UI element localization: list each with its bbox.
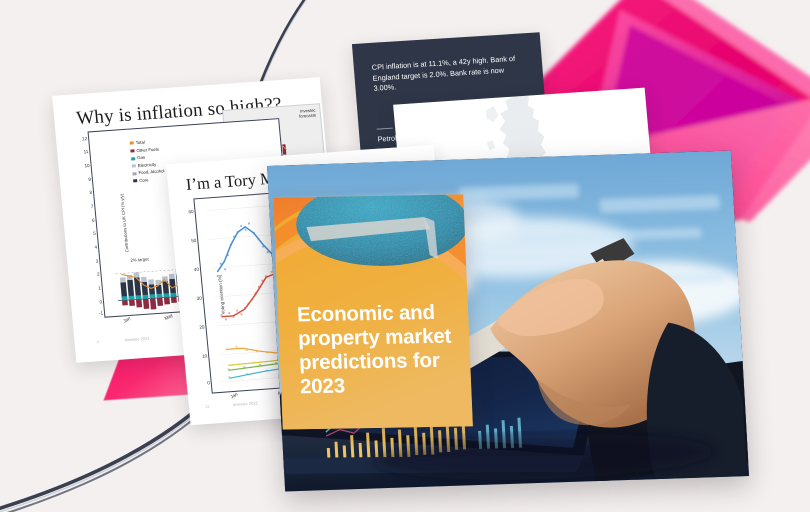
cover-title: Economic and property market predictions… [297,300,467,399]
inset-label: Investecforecasts [298,108,316,119]
divider [377,128,393,130]
collage-stage: Why is inflation so high?? Investecforec… [0,0,810,512]
cpi-statement-text: CPI inflation is at 11.1%, a 42y high. B… [371,53,525,94]
slide-cover-economic-predictions[interactable]: Economic and property market predictions… [273,194,473,429]
page-number: 12 [205,404,210,409]
slide-footer: Investec 2022 [124,336,149,343]
slide-footer: Investec 2022 [233,400,258,407]
page-number: 4 [96,339,99,344]
